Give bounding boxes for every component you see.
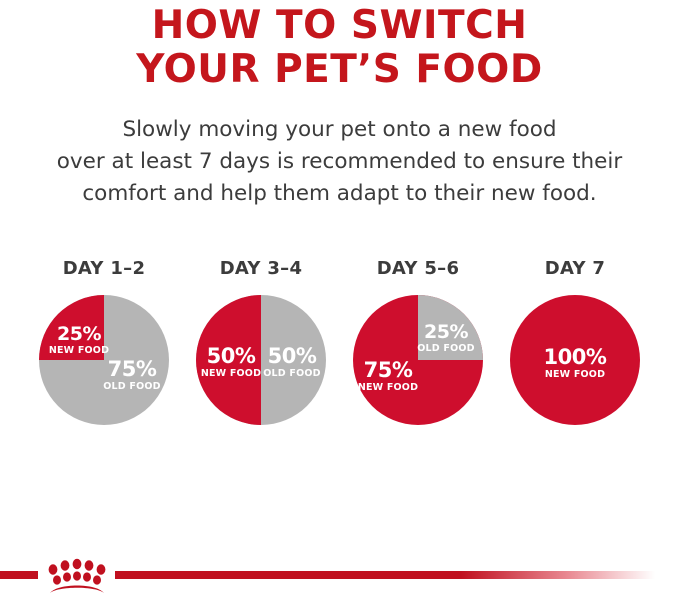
pie-chart-row: DAY 1–2 25% NEW FOOD 75% OLD FOOD DAY 3–… — [0, 258, 679, 448]
pie-svg-3 — [353, 295, 483, 425]
pie-chart-day-1-2: 25% NEW FOOD 75% OLD FOOD — [39, 295, 169, 425]
pie-cell-day-3-4: DAY 3–4 50% NEW FOOD 50% OLD FOOD — [191, 258, 331, 448]
pie-cell-day-7: DAY 7 100% NEW FOOD — [505, 258, 645, 448]
intro-line-1: Slowly moving your pet onto a new food — [0, 114, 679, 146]
intro-line-2: over at least 7 days is recommended to e… — [0, 146, 679, 178]
pie-svg-4 — [510, 295, 640, 425]
pie-slice-old-food-3 — [418, 295, 483, 360]
pie-chart-day-3-4: 50% NEW FOOD 50% OLD FOOD — [196, 295, 326, 425]
page-title-line-1: HOW TO SWITCH — [0, 4, 679, 48]
intro-line-3: comfort and help them adapt to their new… — [0, 178, 679, 210]
pie-chart-day-7: 100% NEW FOOD — [510, 295, 640, 425]
day-label-3: DAY 5–6 — [377, 258, 460, 279]
pie-slice-new-food-1 — [39, 295, 104, 360]
pie-chart-day-5-6: 75% NEW FOOD 25% OLD FOOD — [353, 295, 483, 425]
pie-svg-1 — [39, 295, 169, 425]
page-title: HOW TO SWITCH YOUR PET’S FOOD — [0, 4, 679, 92]
footer-rule-right — [115, 571, 655, 579]
pie-slice-new-food-2 — [196, 295, 261, 425]
pie-slice-new-food-4 — [510, 295, 640, 425]
footer-bar — [0, 563, 679, 594]
day-label-4: DAY 7 — [545, 258, 605, 279]
pie-cell-day-1-2: DAY 1–2 25% NEW FOOD 75% OLD FOOD — [34, 258, 174, 448]
page-title-line-2: YOUR PET’S FOOD — [0, 48, 679, 92]
day-label-1: DAY 1–2 — [63, 258, 146, 279]
intro-paragraph: Slowly moving your pet onto a new food o… — [0, 114, 679, 210]
pie-cell-day-5-6: DAY 5–6 75% NEW FOOD 25% OLD FOOD — [348, 258, 488, 448]
pie-svg-2 — [196, 295, 326, 425]
crown-icon — [42, 555, 112, 595]
footer-rule-left — [0, 571, 38, 579]
day-label-2: DAY 3–4 — [220, 258, 303, 279]
